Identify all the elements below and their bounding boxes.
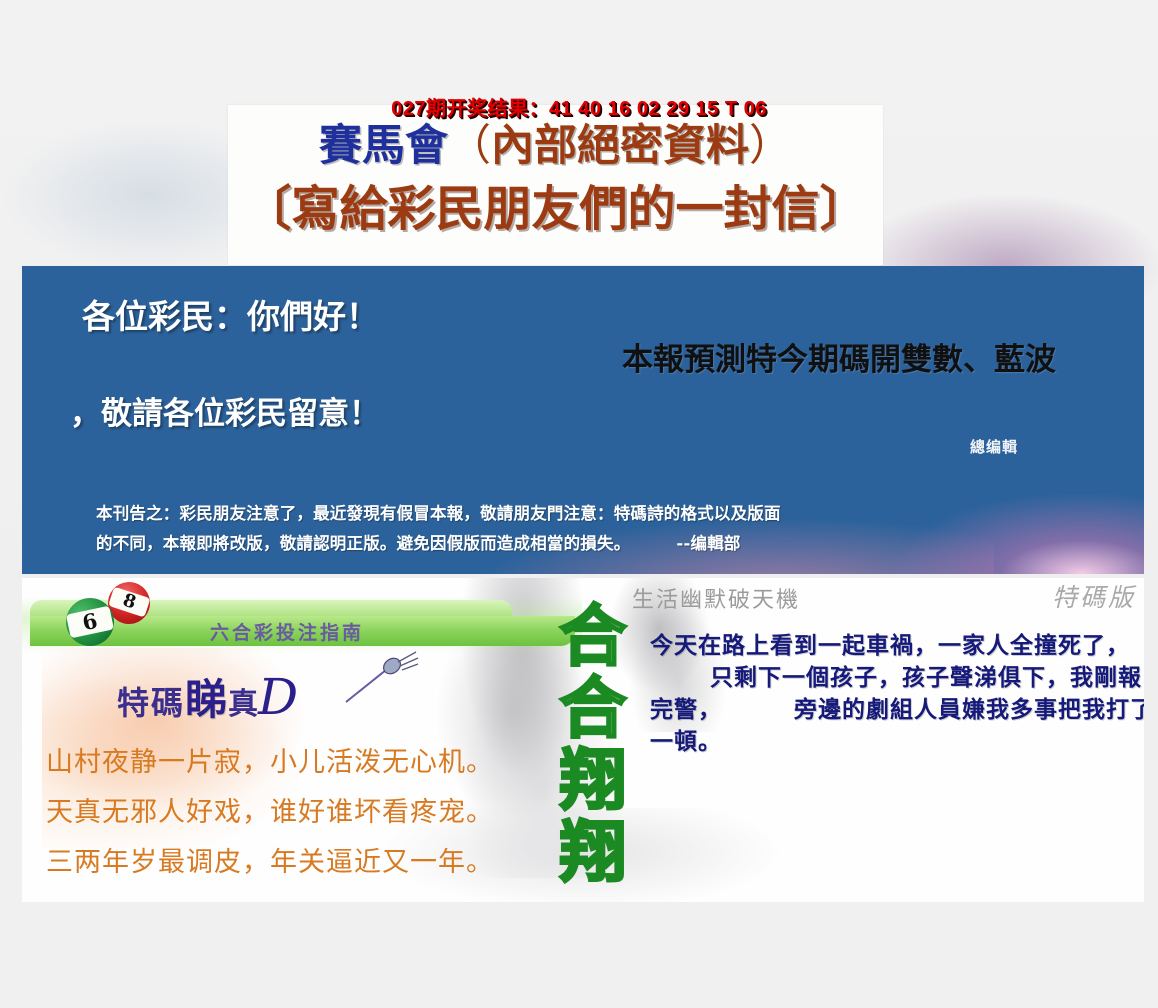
right-column: 生活幽默破天機 特碼版 今天在路上看到一起車禍，一家人全撞死了， 只剩下一個孩子… [610, 578, 1144, 902]
poem-line: 天真无邪人好戏，谁好谁坏看疼宠。 [46, 788, 546, 838]
vertical-green-characters: 合 合 翔 翔 [550, 600, 636, 888]
joke-story-text: 今天在路上看到一起車禍，一家人全撞死了， 只剩下一個孩子，孩子聲涕俱下，我剛報 … [650, 630, 1140, 758]
tema-part-1: 特碼 [117, 684, 185, 722]
draw-result-text: 027期开奖结果：41 40 16 02 29 15 T 06 [0, 92, 1158, 121]
masthead-banner: 賽馬會（內部絕密資料） 〔寫給彩民朋友們的一封信〕 [228, 105, 883, 265]
fineprint-line-1: 本刊告之：彩民朋友注意了，最近發現有假冒本報，敬請朋友門注意：特碼詩的格式以及版… [96, 499, 1106, 529]
background-smudge-left [0, 120, 250, 270]
editorial-fineprint: 本刊告之：彩民朋友注意了，最近發現有假冒本報，敬請朋友門注意：特碼詩的格式以及版… [96, 499, 1106, 559]
masthead-subtitle: 〔寫給彩民朋友們的一封信〕 [228, 185, 883, 233]
fineprint-line-2: 的不同，本報即將改版，敬請認明正版。避免因假版而造成相當的損失。 [96, 534, 630, 553]
badminton-shuttle-icon [340, 650, 420, 710]
lower-content-panel: 8 6 六合彩投注指南 特碼睇真D 山村夜静一片寂，小儿活泼无心机。 天真无邪人… [22, 578, 1144, 902]
masthead-paren-close: ） [749, 121, 792, 171]
editorial-panel: 各位彩民：你們好！ 本報預測特今期碼開雙數、藍波 ，敬請各位彩民留意！ 總编輯 … [22, 266, 1144, 574]
poem-block: 山村夜静一片寂，小儿活泼无心机。 天真无邪人好戏，谁好谁坏看疼宠。 三两年岁最调… [46, 738, 546, 888]
story-line-3b: 旁邊的劇組人員嫌我多事把我打了 [794, 696, 1144, 723]
guide-banner-label: 六合彩投注指南 [210, 618, 364, 645]
story-line-3: 完警，旁邊的劇組人員嫌我多事把我打了 [650, 694, 1140, 726]
page-root: 賽馬會（內部絕密資料） 〔寫給彩民朋友們的一封信〕 027期开奖结果：41 40… [0, 0, 1158, 1008]
editorial-greeting: 各位彩民：你們好！ [82, 290, 379, 338]
masthead-brand: 賽馬會 [319, 121, 448, 171]
tema-headline: 特碼睇真D [117, 666, 298, 727]
fineprint-signoff: --编輯部 [676, 534, 740, 553]
masthead-secret-text: 內部絕密資料 [491, 121, 749, 171]
editorial-notice: ，敬請各位彩民留意！ [70, 388, 380, 433]
tema-part-3: 真 [228, 687, 258, 722]
story-line: 只剩下一個孩子，孩子聲涕俱下，我剛報 [650, 662, 1140, 694]
story-line-3a: 完警， [650, 696, 722, 723]
tema-part-4: D [258, 668, 298, 726]
editorial-forecast: 本報預測特今期碼開雙數、藍波 [622, 334, 1056, 379]
vertical-char: 合 [550, 600, 636, 672]
story-line: 今天在路上看到一起車禍，一家人全撞死了， [650, 630, 1140, 662]
vertical-char: 翔 [550, 744, 636, 816]
masthead-paren-open: （ [448, 121, 491, 171]
tema-part-2: 睇 [185, 675, 228, 724]
masthead-title-line: 賽馬會（內部絕密資料） [228, 125, 883, 168]
right-column-header-left: 生活幽默破天機 [632, 582, 800, 614]
story-line: 一頓。 [650, 726, 1140, 758]
poem-line: 山村夜静一片寂，小儿活泼无心机。 [46, 738, 546, 788]
vertical-char: 翔 [550, 816, 636, 888]
right-column-header-right: 特碼版 [1052, 578, 1136, 614]
ball-green-number: 6 [64, 604, 116, 638]
fineprint-line-2-wrap: 的不同，本報即將改版，敬請認明正版。避免因假版而造成相當的損失。--编輯部 [96, 529, 1106, 559]
vertical-char: 合 [550, 672, 636, 744]
editorial-signature: 總编輯 [970, 436, 1018, 457]
poem-line: 三两年岁最调皮，年关逼近又一年。 [46, 838, 546, 888]
